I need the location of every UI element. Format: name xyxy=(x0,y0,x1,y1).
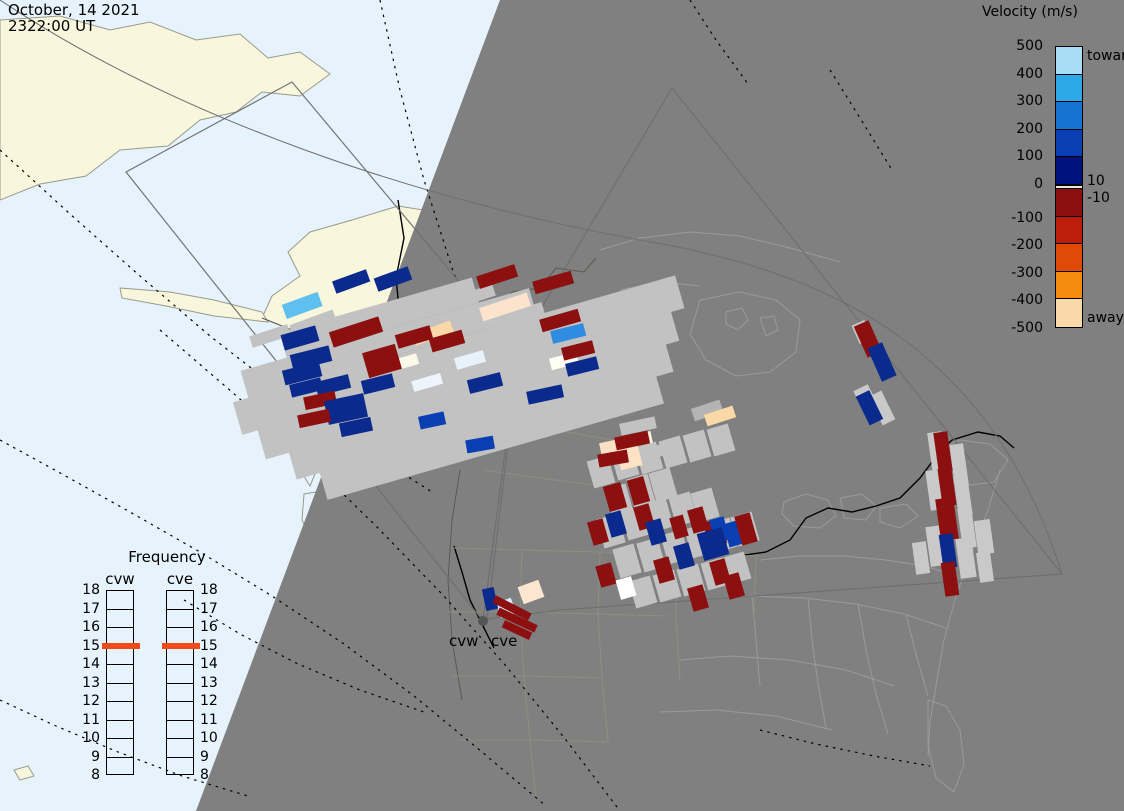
frequency-channel-name: cvw xyxy=(100,570,140,588)
colorbar-title: Velocity (m/s) xyxy=(982,4,1124,20)
frequency-tick-14: 14 xyxy=(200,656,218,672)
frequency-cell xyxy=(107,647,133,666)
frequency-tick-16: 16 xyxy=(78,619,100,635)
colorbar-tick-minus10: -10 xyxy=(1087,190,1110,206)
frequency-cell xyxy=(167,647,193,666)
frequency-tick-17: 17 xyxy=(200,601,218,617)
frequency-cell xyxy=(107,758,133,777)
colorbar-segment-away-2 xyxy=(1056,244,1082,272)
frequency-tick-10: 10 xyxy=(78,730,100,746)
colorbar-tick-plus10: 10 xyxy=(1087,173,1105,189)
colorbar-segment-away-1 xyxy=(1056,217,1082,245)
frequency-cell xyxy=(167,758,193,777)
frequency-cell xyxy=(107,739,133,758)
frequency-cell xyxy=(107,665,133,684)
frequency-tick-8: 8 xyxy=(78,767,100,783)
colorbar-tick-100: 100 xyxy=(1016,148,1043,164)
frequency-cell xyxy=(167,702,193,721)
frequency-cell xyxy=(167,610,193,629)
frequency-tick-13: 13 xyxy=(78,675,100,691)
colorbar-away-label: away xyxy=(1087,310,1124,326)
frequency-title: Frequency xyxy=(82,548,252,566)
frequency-panel: Frequency cvw cve 1817161514131211109818… xyxy=(82,548,252,788)
colorbar-tick-neg100: -100 xyxy=(1011,210,1043,226)
frequency-marker-cve xyxy=(162,643,200,649)
colorbar-segment-away-0 xyxy=(1056,189,1082,217)
frequency-cell xyxy=(107,610,133,629)
frequency-marker-cvw xyxy=(102,643,140,649)
colorbar-tick-400: 400 xyxy=(1016,66,1043,82)
radar-map-figure: October, 14 20212322:00 UT Velocity (m/s… xyxy=(0,0,1124,811)
frequency-cell xyxy=(167,739,193,758)
colorbar-segment-toward-2 xyxy=(1056,102,1082,130)
frequency-tick-18: 18 xyxy=(200,582,218,598)
frequency-tick-15: 15 xyxy=(78,638,100,654)
frequency-cell xyxy=(107,684,133,703)
colorbar-tick-0: 0 xyxy=(1034,176,1043,192)
colorbar-toward-label: toward xyxy=(1087,48,1124,64)
colorbar-tick-neg300: -300 xyxy=(1011,265,1043,281)
site-label-cve: cve xyxy=(491,632,517,650)
velocity-colorbar: Velocity (m/s) 5004003002001000-100-200-… xyxy=(1008,4,1124,334)
colorbar-segment-toward-4 xyxy=(1056,157,1082,185)
colorbar-segment-toward-1 xyxy=(1056,75,1082,103)
timestamp-label: October, 14 20212322:00 UT xyxy=(8,2,140,34)
frequency-cell xyxy=(167,665,193,684)
frequency-tick-11: 11 xyxy=(78,712,100,728)
frequency-tick-18: 18 xyxy=(78,582,100,598)
frequency-channel-name: cve xyxy=(160,570,200,588)
colorbar-segment-away-3 xyxy=(1056,272,1082,300)
colorbar-tick-300: 300 xyxy=(1016,93,1043,109)
frequency-tick-16: 16 xyxy=(200,619,218,635)
frequency-tick-13: 13 xyxy=(200,675,218,691)
site-label-cvw: cvw xyxy=(449,632,478,650)
time-label: 2322:00 UT xyxy=(8,17,95,35)
frequency-bar-cvw xyxy=(106,590,134,775)
frequency-cell xyxy=(107,591,133,610)
frequency-tick-10: 10 xyxy=(200,730,218,746)
colorbar-tick-200: 200 xyxy=(1016,121,1043,137)
frequency-bar-cve xyxy=(166,590,194,775)
frequency-tick-15: 15 xyxy=(200,638,218,654)
colorbar-tick-neg400: -400 xyxy=(1011,292,1043,308)
colorbar-tick-neg500: -500 xyxy=(1011,320,1043,336)
frequency-cell xyxy=(167,684,193,703)
frequency-tick-11: 11 xyxy=(200,712,218,728)
frequency-tick-9: 9 xyxy=(200,749,209,765)
frequency-cell xyxy=(167,591,193,610)
frequency-tick-14: 14 xyxy=(78,656,100,672)
radar-site-marker xyxy=(478,616,488,626)
colorbar-tick-500: 500 xyxy=(1016,38,1043,54)
colorbar-tick-neg200: -200 xyxy=(1011,237,1043,253)
frequency-tick-9: 9 xyxy=(78,749,100,765)
frequency-tick-12: 12 xyxy=(78,693,100,709)
frequency-tick-8: 8 xyxy=(200,767,209,783)
colorbar-segment-away-4 xyxy=(1056,299,1082,327)
frequency-cell xyxy=(107,721,133,740)
frequency-tick-17: 17 xyxy=(78,601,100,617)
colorbar-segment-toward-0 xyxy=(1056,47,1082,75)
frequency-cell xyxy=(167,721,193,740)
frequency-cell xyxy=(107,702,133,721)
colorbar-gradient xyxy=(1055,46,1083,328)
colorbar-segment-toward-3 xyxy=(1056,130,1082,158)
frequency-tick-12: 12 xyxy=(200,693,218,709)
